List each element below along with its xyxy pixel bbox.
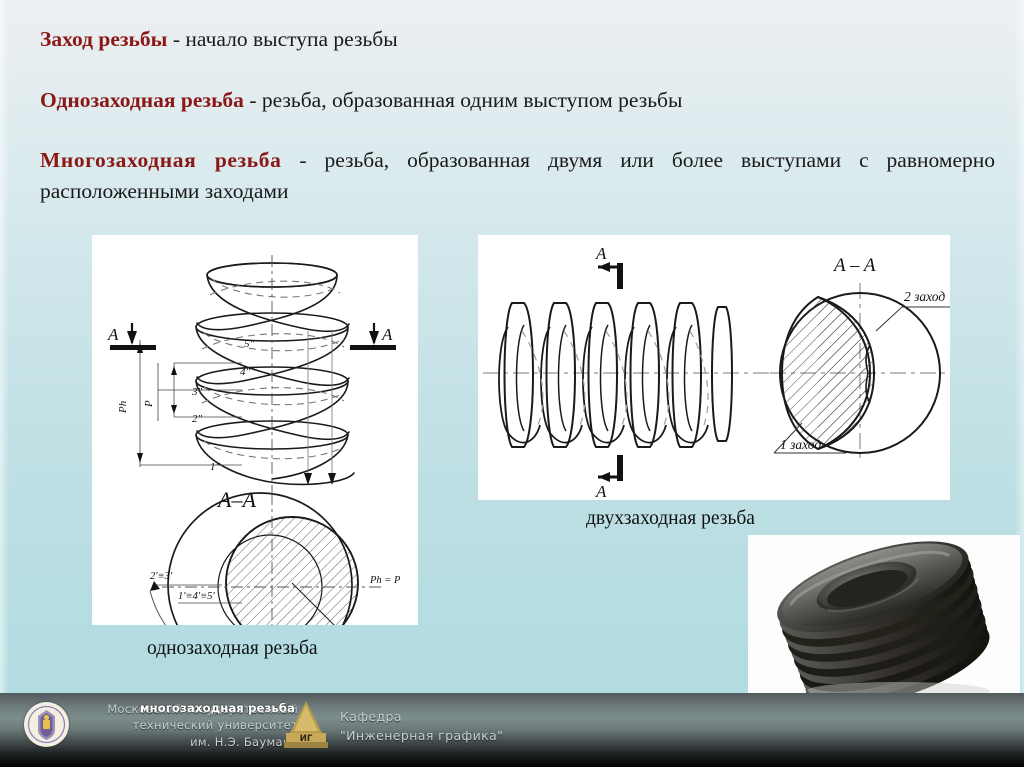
caption-single-start: однозаходная резьба xyxy=(147,638,318,660)
dash-2: - xyxy=(244,88,262,112)
svg-text:A: A xyxy=(107,325,119,344)
department-line-2: "Инженерная графика" xyxy=(340,726,503,745)
double-start-thread-svg: A A A – A xyxy=(478,235,950,500)
dash-3: - xyxy=(281,148,324,172)
left-edge-highlight xyxy=(0,0,9,767)
definition-text-block: Заход резьбы - начало выступа резьбы Одн… xyxy=(40,24,995,206)
label-point-2: 2" xyxy=(192,413,203,425)
figure-single-start-thread: A A xyxy=(92,235,418,625)
label-ph: Ph xyxy=(117,400,129,414)
label-1-4-5-prime: 1'≡4'≡5' xyxy=(178,591,215,602)
definition-paragraph-1: Заход резьбы - начало выступа резьбы xyxy=(40,24,995,55)
label-p: P xyxy=(143,400,155,408)
definition-2: резьба, образованная одним выступом резь… xyxy=(262,88,683,112)
figure-double-start-thread: A A A – A xyxy=(478,235,950,500)
term-zahod-rezby: Заход резьбы xyxy=(40,27,167,51)
label-a-top: A xyxy=(595,244,607,263)
term-odnozahodnaya-rezba: Однозаходная резьба xyxy=(40,88,244,112)
department-line-1: Кафедра xyxy=(340,707,503,726)
label-section-a-a: A – A xyxy=(832,255,876,276)
label-2-zahod: 2 заход xyxy=(904,289,945,304)
university-line-3: им. Н.Э. Баумана xyxy=(58,734,298,750)
slide: Заход резьбы - начало выступа резьбы Одн… xyxy=(0,0,1024,767)
department-name: Кафедра "Инженерная графика" xyxy=(340,707,503,746)
caption-double-start: двухзаходная резьба xyxy=(586,508,755,530)
term-mnogozahodnaya-rezba: Многозаходная резьба xyxy=(40,148,281,172)
definition-paragraph-2: Однозаходная резьба - резьба, образованн… xyxy=(40,85,995,116)
label-point-5: 5" xyxy=(244,338,255,350)
svg-text:A: A xyxy=(381,325,393,344)
label-point-1: 1" xyxy=(210,461,221,473)
section-title-a-a: A–A xyxy=(216,487,256,512)
label-point-3: 3" xyxy=(191,386,203,398)
label-2-3-prime: 2'≡3' xyxy=(150,571,173,582)
definition-1: начало выступа резьбы xyxy=(185,27,397,51)
department-emblem-text: ИГ xyxy=(300,734,313,744)
label-a-bottom: A xyxy=(595,482,607,500)
definition-paragraph-3: Многозаходная резьба - резьба, образован… xyxy=(40,145,995,206)
worm-photo-svg xyxy=(748,535,1020,699)
label-1-zahod: 1 заход xyxy=(780,437,821,452)
dash-1: - xyxy=(167,27,185,51)
photo-multistart-worm-panel xyxy=(748,535,1020,699)
photo-multistart-worm xyxy=(748,535,1020,699)
single-start-thread-svg: A A xyxy=(92,235,418,625)
university-line-2: технический университет xyxy=(58,717,298,733)
label-ph-equals-p: Ph = P xyxy=(369,575,401,586)
caption-multi-start-overlay: многозаходная резьба xyxy=(140,701,295,715)
label-point-4: 4" xyxy=(240,366,251,378)
